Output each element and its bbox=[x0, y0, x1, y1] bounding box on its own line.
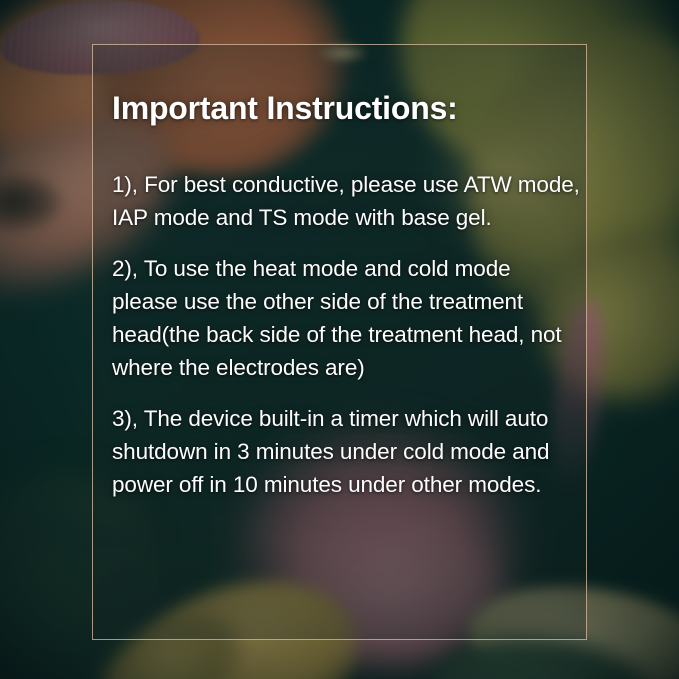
instruction-paragraph-1: 1), For best conductive, please use ATW … bbox=[112, 168, 580, 234]
instruction-paragraph-2: 2), To use the heat mode and cold mode p… bbox=[112, 252, 580, 384]
page-title: Important Instructions: bbox=[112, 91, 580, 127]
instruction-card-screenshot: Important Instructions: 1), For best con… bbox=[0, 0, 679, 679]
instruction-content: Important Instructions: 1), For best con… bbox=[112, 44, 580, 640]
instruction-paragraph-3: 3), The device built-in a timer which wi… bbox=[112, 402, 580, 501]
